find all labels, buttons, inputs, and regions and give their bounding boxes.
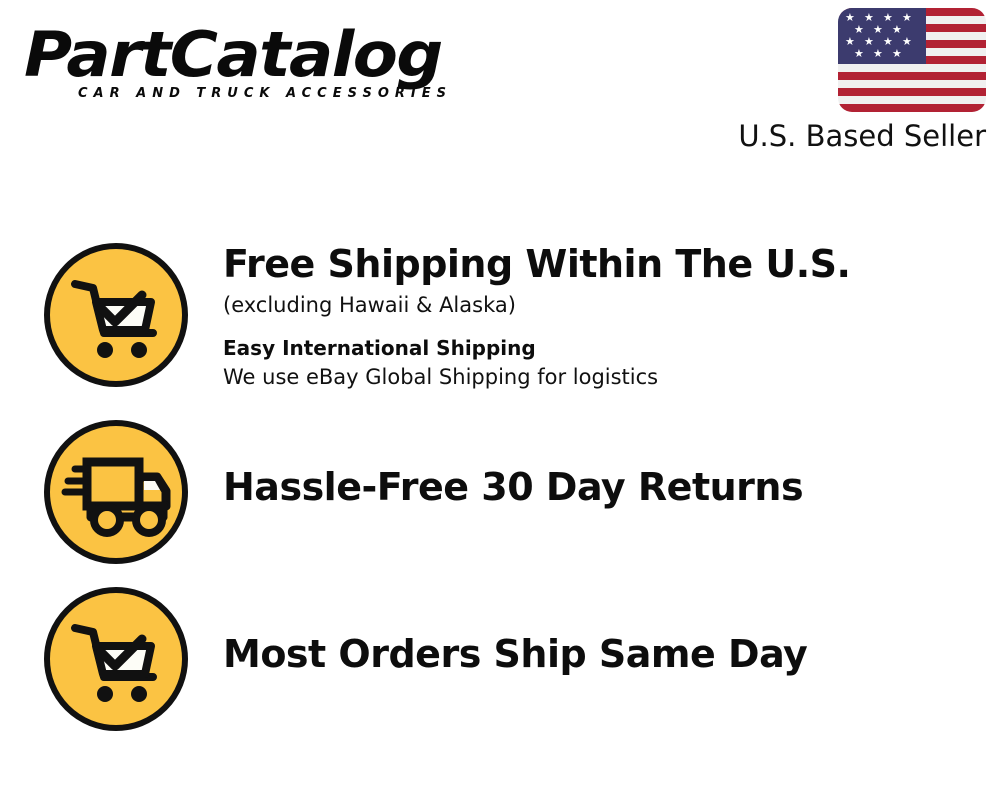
us-based-seller-label: U.S. Based Seller bbox=[716, 119, 986, 153]
shopping-cart-check-icon bbox=[41, 584, 191, 734]
feature-text-block: Most Orders Ship Same Day bbox=[223, 584, 807, 676]
feature-subhead-note: We use eBay Global Shipping for logistic… bbox=[223, 362, 850, 392]
shopping-cart-check-icon bbox=[41, 240, 191, 390]
us-flag-icon: ★ ★ ★ ★ ★ ★ ★ ★ ★ ★ ★ ★ ★ ★ bbox=[838, 8, 986, 112]
feature-row: Most Orders Ship Same Day bbox=[0, 584, 1000, 744]
delivery-truck-icon bbox=[41, 417, 191, 567]
feature-row: Free Shipping Within The U.S. (excluding… bbox=[0, 240, 1000, 420]
feature-subhead-bold: Easy International Shipping bbox=[223, 334, 850, 362]
banner-header: PartCatalog CAR AND TRUCK ACCESSORIES ★ … bbox=[0, 0, 1000, 170]
feature-headline: Free Shipping Within The U.S. bbox=[223, 242, 850, 286]
feature-subline: (excluding Hawaii & Alaska) bbox=[223, 290, 850, 320]
feature-row: Hassle-Free 30 Day Returns bbox=[0, 417, 1000, 582]
feature-text-block: Hassle-Free 30 Day Returns bbox=[223, 417, 803, 509]
brand-logo: PartCatalog CAR AND TRUCK ACCESSORIES bbox=[24, 22, 494, 112]
promo-banner: PartCatalog CAR AND TRUCK ACCESSORIES ★ … bbox=[0, 0, 1000, 800]
us-based-seller-block: ★ ★ ★ ★ ★ ★ ★ ★ ★ ★ ★ ★ ★ ★ U.S. Based S… bbox=[716, 8, 986, 153]
feature-headline: Hassle-Free 30 Day Returns bbox=[223, 465, 803, 509]
flag-canton: ★ ★ ★ ★ ★ ★ ★ ★ ★ ★ ★ ★ ★ ★ bbox=[838, 8, 926, 64]
feature-headline: Most Orders Ship Same Day bbox=[223, 632, 807, 676]
feature-text-block: Free Shipping Within The U.S. (excluding… bbox=[223, 240, 850, 392]
brand-wordmark: PartCatalog bbox=[24, 22, 522, 88]
